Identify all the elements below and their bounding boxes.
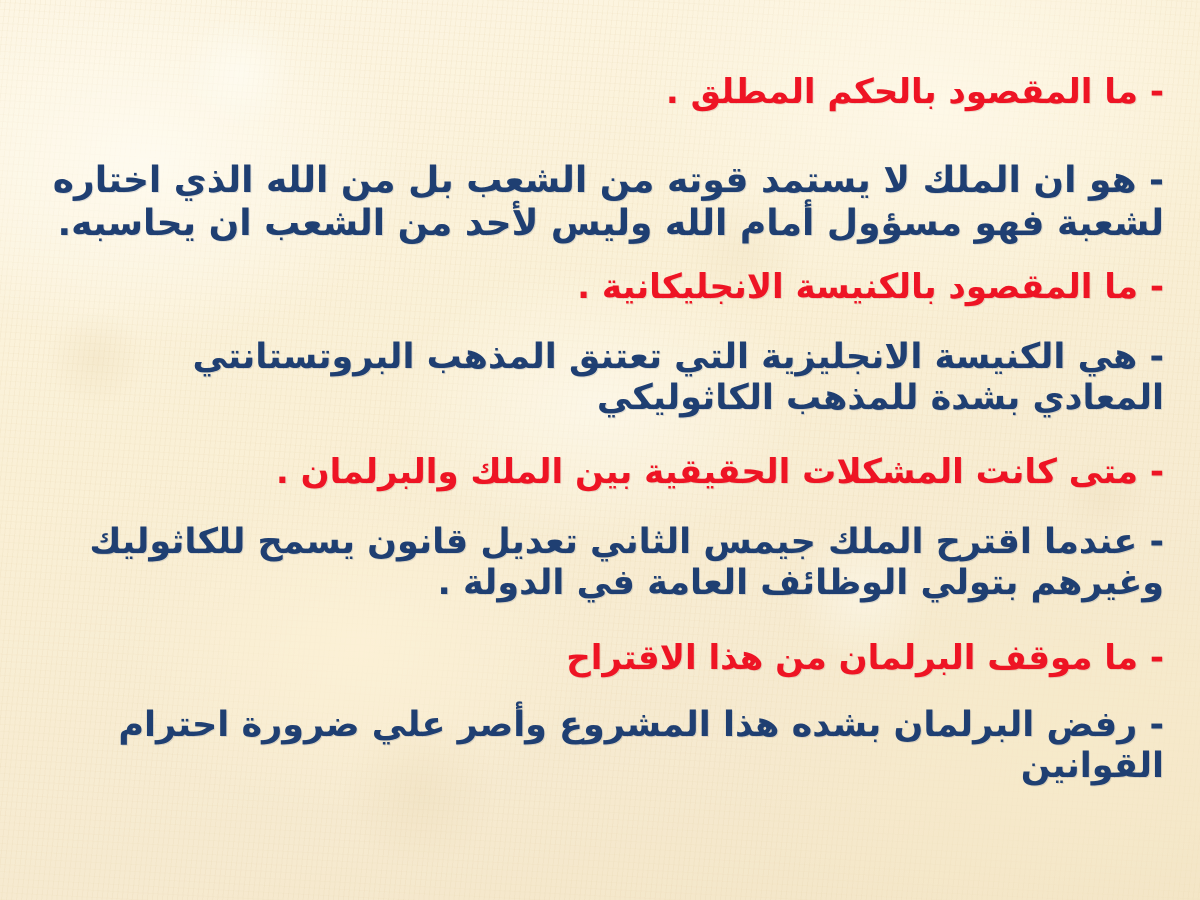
- slide-body-text: - ما المقصود بالحكم المطلق . - هو ان الم…: [0, 0, 1200, 900]
- answer-paragraph-2: - هي الكنيسة الانجليزية التي تعتنق المذه…: [30, 337, 1164, 420]
- answer-paragraph-1: - هو ان الملك لا يستمد قوته من الشعب بل …: [30, 160, 1164, 245]
- question-line-4: - ما موقف البرلمان من هذا الاقتراح: [30, 638, 1164, 678]
- answer-paragraph-4: - رفض البرلمان بشده هذا المشروع وأصر علي…: [30, 705, 1164, 788]
- answer-paragraph-3: - عندما اقترح الملك جيمس الثاني تعديل قا…: [30, 522, 1164, 605]
- question-line-3: - متى كانت المشكلات الحقيقية بين الملك و…: [30, 452, 1164, 492]
- question-line-2: - ما المقصود بالكنيسة الانجليكانية .: [30, 267, 1164, 307]
- slide-canvas: - ما المقصود بالحكم المطلق . - هو ان الم…: [0, 0, 1200, 900]
- question-line-1: - ما المقصود بالحكم المطلق .: [30, 72, 1164, 112]
